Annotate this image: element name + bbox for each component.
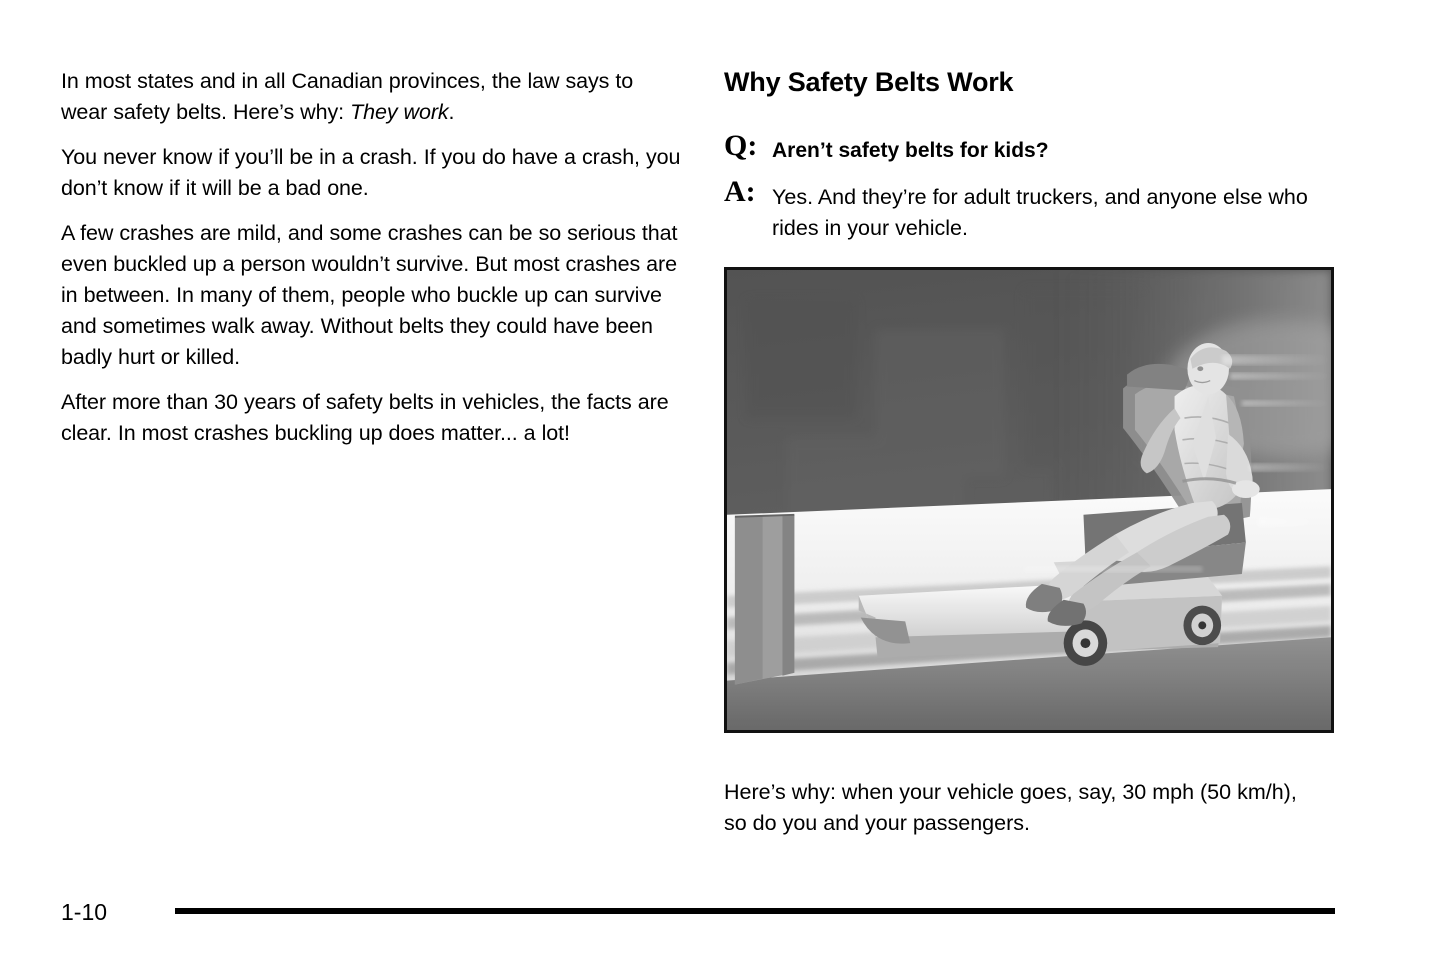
- question-answer-block: Q: Aren’t safety belts for kids? A: Yes.…: [724, 136, 1339, 244]
- question-marker: Q:: [724, 130, 757, 162]
- paragraph-4: After more than 30 years of safety belts…: [61, 387, 681, 449]
- right-text-column: Why Safety Belts Work Q: Aren’t safety b…: [724, 66, 1339, 258]
- paragraph-1-emphasis: They work: [350, 100, 448, 124]
- footer-rule: [175, 908, 1335, 914]
- crash-sled-figure: [724, 267, 1334, 733]
- left-text-column: In most states and in all Canadian provi…: [61, 66, 681, 463]
- paragraph-1-lead: In most states and in all Canadian provi…: [61, 69, 633, 124]
- paragraph-1-tail: .: [449, 100, 455, 124]
- manual-page: In most states and in all Canadian provi…: [0, 0, 1445, 966]
- paragraph-1: In most states and in all Canadian provi…: [61, 66, 681, 128]
- page-number: 1-10: [61, 898, 107, 926]
- paragraph-2: You never know if you’ll be in a crash. …: [61, 142, 681, 204]
- paragraph-3: A few crashes are mild, and some crashes…: [61, 218, 681, 373]
- figure-frame: [724, 267, 1334, 733]
- question-text: Aren’t safety belts for kids?: [772, 136, 1339, 166]
- crash-sled-illustration: [727, 270, 1331, 730]
- figure-caption: Here’s why: when your vehicle goes, say,…: [724, 777, 1324, 839]
- question-row: Q: Aren’t safety belts for kids?: [724, 136, 1339, 166]
- answer-row: A: Yes. And they’re for adult truckers, …: [724, 182, 1339, 244]
- section-heading: Why Safety Belts Work: [724, 66, 1339, 98]
- answer-text: Yes. And they’re for adult truckers, and…: [772, 182, 1339, 244]
- answer-marker: A:: [724, 176, 756, 208]
